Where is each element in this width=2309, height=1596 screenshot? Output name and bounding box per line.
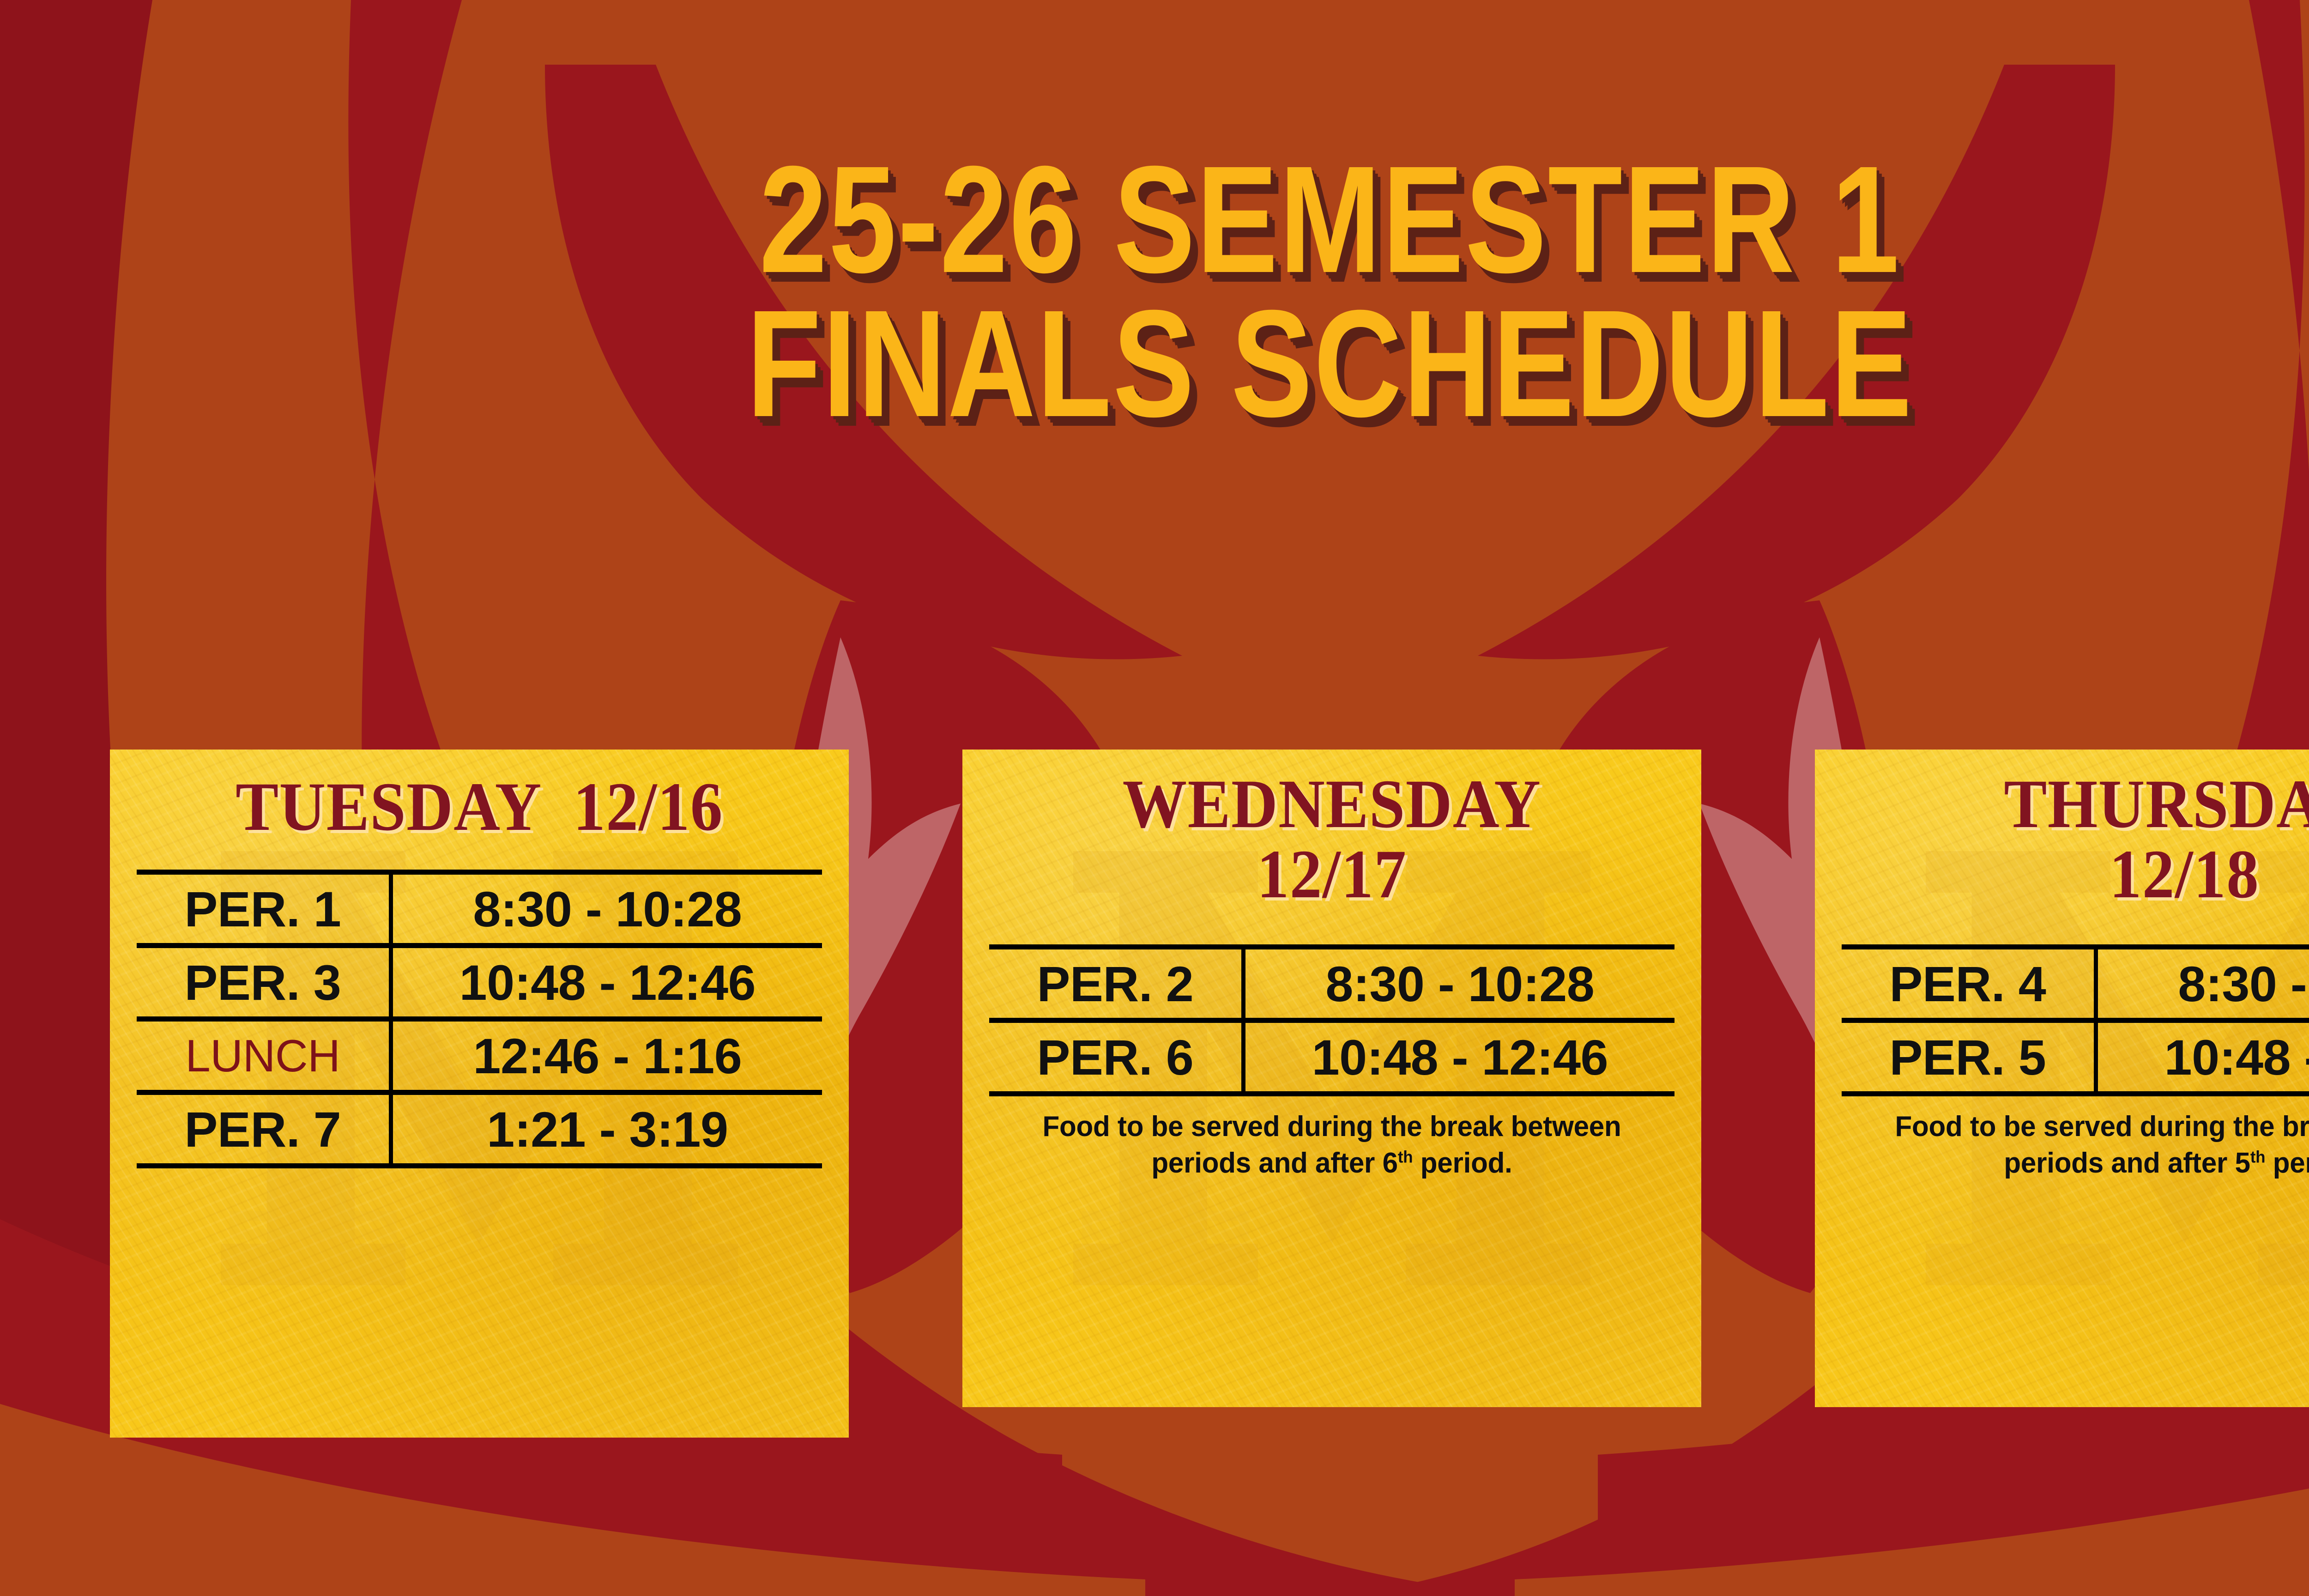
period-time: 1:21 - 3:19 [391,1093,822,1166]
lunch-time: 12:46 - 1:16 [391,1019,822,1093]
card-title-thursday: THURSDAY 12/18 [1866,750,2309,907]
note-text: Food to be served during the break betwe… [1042,1111,1621,1179]
note-tail: period. [1413,1147,1512,1179]
period-label: PER. 4 [1842,947,2096,1021]
schedule-table-wrap-wednesday: PER. 2 8:30 - 10:28 PER. 6 10:48 - 12:46 [989,944,1674,1096]
period-label: PER. 2 [989,947,1243,1021]
card-day-label: WEDNESDAY [1123,766,1541,842]
period-label: PER. 5 [1842,1021,2096,1094]
lunch-label: LUNCH [137,1019,391,1093]
card-day-label: THURSDAY [2004,766,2309,842]
period-label: PER. 1 [137,872,391,946]
period-time: 10:48 - 12:46 [391,946,822,1019]
note-ordinal: th [2250,1148,2265,1167]
note-ordinal: th [1398,1148,1413,1167]
card-date-label: 12/17 [1013,841,1650,907]
table-row: PER. 5 10:48 - 12:46 [1842,1021,2309,1094]
period-label: PER. 6 [989,1021,1243,1094]
schedule-table-tuesday: PER. 1 8:30 - 10:28 PER. 3 10:48 - 12:46… [137,870,822,1168]
card-date-label: 12/18 [1866,841,2309,907]
period-time: 8:30 - 10:28 [1243,947,1674,1021]
forehead-wedge [1013,0,1647,526]
card-note-wednesday: Food to be served during the break betwe… [999,1108,1664,1182]
schedule-table-wednesday: PER. 2 8:30 - 10:28 PER. 6 10:48 - 12:46 [989,944,1674,1096]
card-day-label: TUESDAY [236,768,539,845]
period-label: PER. 3 [137,946,391,1019]
table-row: LUNCH 12:46 - 1:16 [137,1019,822,1093]
period-time: 10:48 - 12:46 [1243,1021,1674,1094]
card-note-thursday: Food to be served during the break betwe… [1852,1108,2309,1182]
period-time: 8:30 - 10:28 [2096,947,2309,1021]
table-row: PER. 4 8:30 - 10:28 [1842,947,2309,1021]
period-time: 8:30 - 10:28 [391,872,822,946]
card-title-tuesday: TUESDAY 12/16 [161,750,798,840]
table-row: PER. 7 1:21 - 3:19 [137,1093,822,1166]
schedule-table-thursday: PER. 4 8:30 - 10:28 PER. 5 10:48 - 12:46 [1842,944,2309,1096]
card-title-wednesday: WEDNESDAY 12/17 [1013,750,1650,907]
period-time: 10:48 - 12:46 [2096,1021,2309,1094]
note-text: Food to be served during the break betwe… [1895,1111,2309,1179]
schedule-table-wrap-tuesday: PER. 1 8:30 - 10:28 PER. 3 10:48 - 12:46… [137,870,822,1168]
schedule-card-thursday: THURSDAY 12/18 PER. 4 8:30 - 10:28 PER. … [1815,750,2309,1407]
period-label: PER. 7 [137,1093,391,1166]
note-tail: period. [2265,1147,2309,1179]
schedule-card-tuesday: TUESDAY 12/16 PER. 1 8:30 - 10:28 PER. 3… [110,750,849,1438]
table-row: PER. 6 10:48 - 12:46 [989,1021,1674,1094]
table-row: PER. 1 8:30 - 10:28 [137,872,822,946]
schedule-cards-row: TUESDAY 12/16 PER. 1 8:30 - 10:28 PER. 3… [110,750,2309,1438]
schedule-table-wrap-thursday: PER. 4 8:30 - 10:28 PER. 5 10:48 - 12:46 [1842,944,2309,1096]
table-row: PER. 3 10:48 - 12:46 [137,946,822,1019]
table-row: PER. 2 8:30 - 10:28 [989,947,1674,1021]
schedule-card-wednesday: WEDNESDAY 12/17 PER. 2 8:30 - 10:28 PER.… [962,750,1701,1407]
card-date-label: 12/16 [573,768,723,845]
